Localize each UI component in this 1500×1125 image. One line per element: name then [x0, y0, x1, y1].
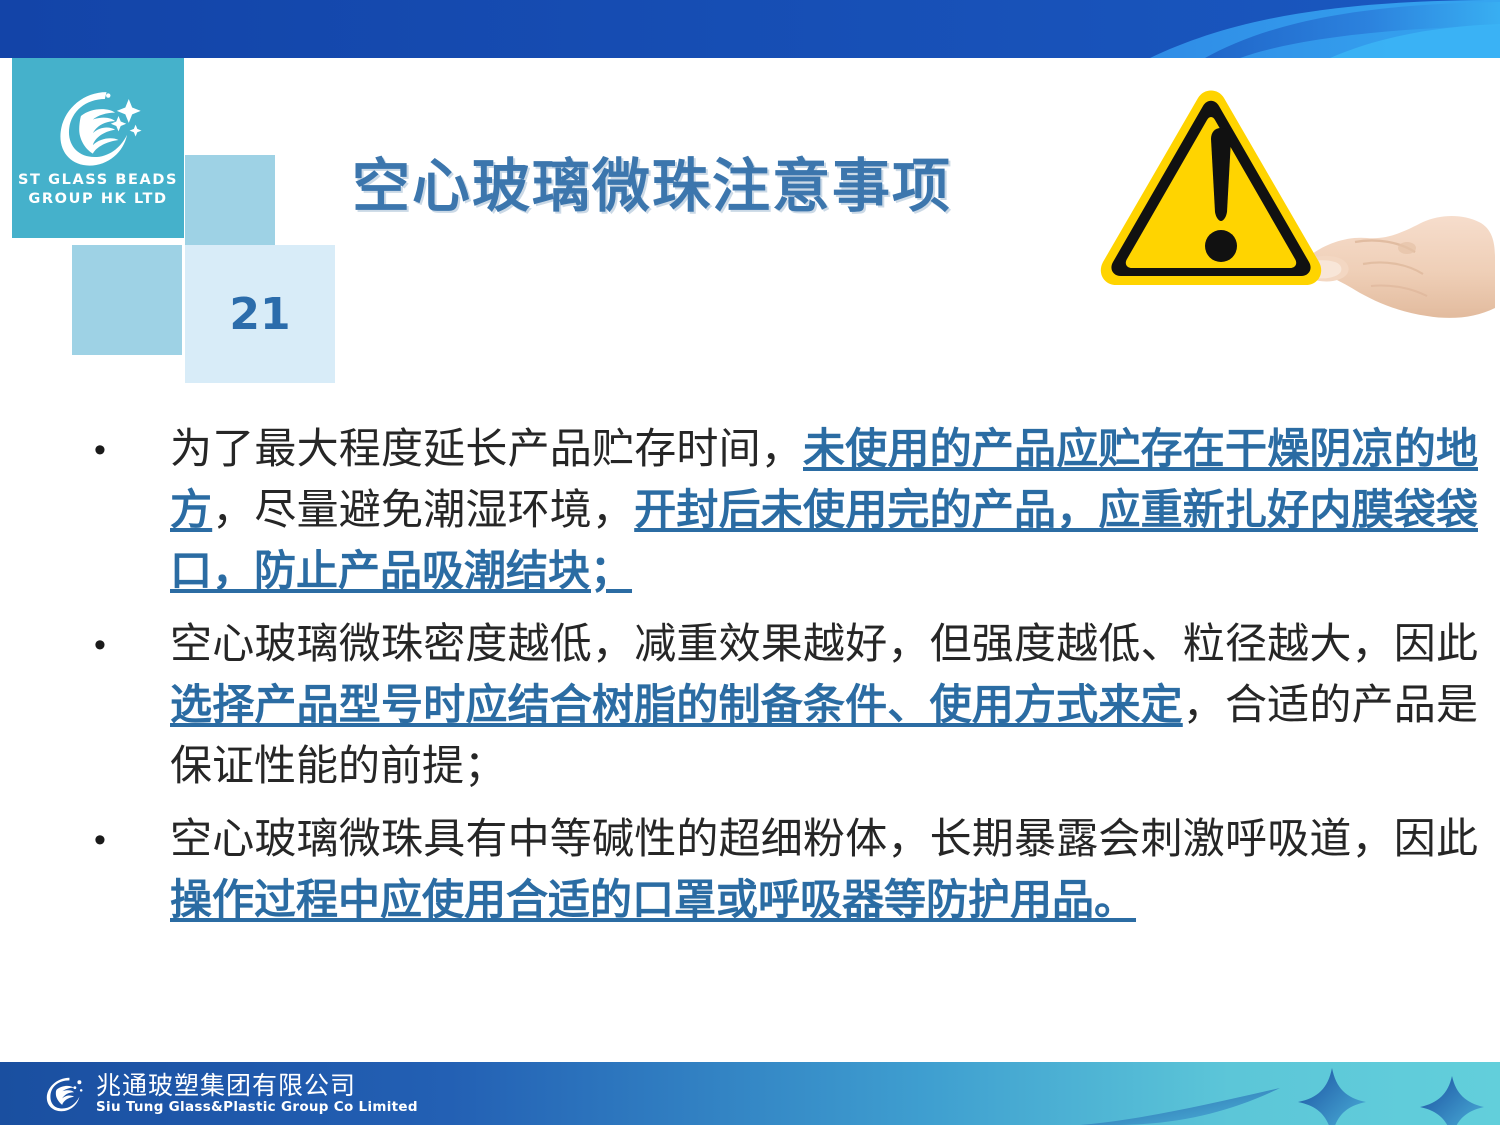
- plain-text-segment: ，尽量避免潮湿环境，: [212, 485, 634, 534]
- st-glass-beads-swoosh-logo-icon: [46, 87, 150, 169]
- slide-number: 21: [185, 245, 335, 383]
- top-banner: [0, 0, 1500, 58]
- footer-brand: 兆通玻塑集团有限公司 Siu Tung Glass&Plastic Group …: [42, 1062, 418, 1125]
- list-item: •空心玻璃微珠密度越低，减重效果越好，但强度越低、粒径越大，因此选择产品型号时应…: [78, 613, 1478, 796]
- footer-company-cn: 兆通玻塑集团有限公司: [96, 1073, 418, 1099]
- company-logo-tile: ST GLASS BEADS GROUP HK LTD: [12, 58, 184, 238]
- list-item-text: 空心玻璃微珠密度越低，减重效果越好，但强度越低、粒径越大，因此选择产品型号时应结…: [170, 613, 1478, 796]
- company-logo-text: ST GLASS BEADS GROUP HK LTD: [18, 171, 178, 208]
- bullet-marker-icon: •: [78, 418, 170, 482]
- logo-line-2: GROUP HK LTD: [18, 190, 178, 209]
- footer-sparkle-decoration: [1080, 1062, 1500, 1125]
- footer-company-names: 兆通玻塑集团有限公司 Siu Tung Glass&Plastic Group …: [96, 1073, 418, 1114]
- siu-tung-swoosh-logo-icon: [42, 1075, 86, 1113]
- bullet-list: •为了最大程度延长产品贮存时间，未使用的产品应贮存在干燥阴凉的地方，尽量避免潮湿…: [78, 418, 1478, 942]
- highlighted-text-segment: 操作过程中应使用合适的口罩或呼吸器等防护用品。: [170, 875, 1136, 924]
- page-title: 空心玻璃微珠注意事项: [352, 155, 1052, 219]
- decor-square-left: [72, 245, 182, 355]
- list-item: •为了最大程度延长产品贮存时间，未使用的产品应贮存在干燥阴凉的地方，尽量避免潮湿…: [78, 418, 1478, 601]
- list-item: •空心玻璃微珠具有中等碱性的超细粉体，长期暴露会刺激呼吸道，因此操作过程中应使用…: [78, 808, 1478, 930]
- warning-triangle-icon: [1055, 62, 1495, 362]
- bullet-marker-icon: •: [78, 613, 170, 677]
- list-item-text: 空心玻璃微珠具有中等碱性的超细粉体，长期暴露会刺激呼吸道，因此操作过程中应使用合…: [170, 808, 1478, 930]
- plain-text-segment: 为了最大程度延长产品贮存时间，: [170, 424, 803, 473]
- plain-text-segment: 空心玻璃微珠密度越低，减重效果越好，但强度越低、粒径越大，因此: [170, 619, 1478, 668]
- bullet-marker-icon: •: [78, 808, 170, 872]
- footer-bar: 兆通玻塑集团有限公司 Siu Tung Glass&Plastic Group …: [0, 1062, 1500, 1125]
- logo-line-1: ST GLASS BEADS: [18, 171, 178, 190]
- top-banner-wave-decoration: [0, 0, 1500, 58]
- slide-canvas: ST GLASS BEADS GROUP HK LTD 21 空心玻璃微珠注意事…: [0, 0, 1500, 1125]
- highlighted-text-segment: 选择产品型号时应结合树脂的制备条件、使用方式来定: [170, 680, 1183, 729]
- footer-company-en: Siu Tung Glass&Plastic Group Co Limited: [96, 1100, 418, 1114]
- list-item-text: 为了最大程度延长产品贮存时间，未使用的产品应贮存在干燥阴凉的地方，尽量避免潮湿环…: [170, 418, 1478, 601]
- decor-square-upper: [185, 155, 275, 245]
- plain-text-segment: 空心玻璃微珠具有中等碱性的超细粉体，长期暴露会刺激呼吸道，因此: [170, 814, 1478, 863]
